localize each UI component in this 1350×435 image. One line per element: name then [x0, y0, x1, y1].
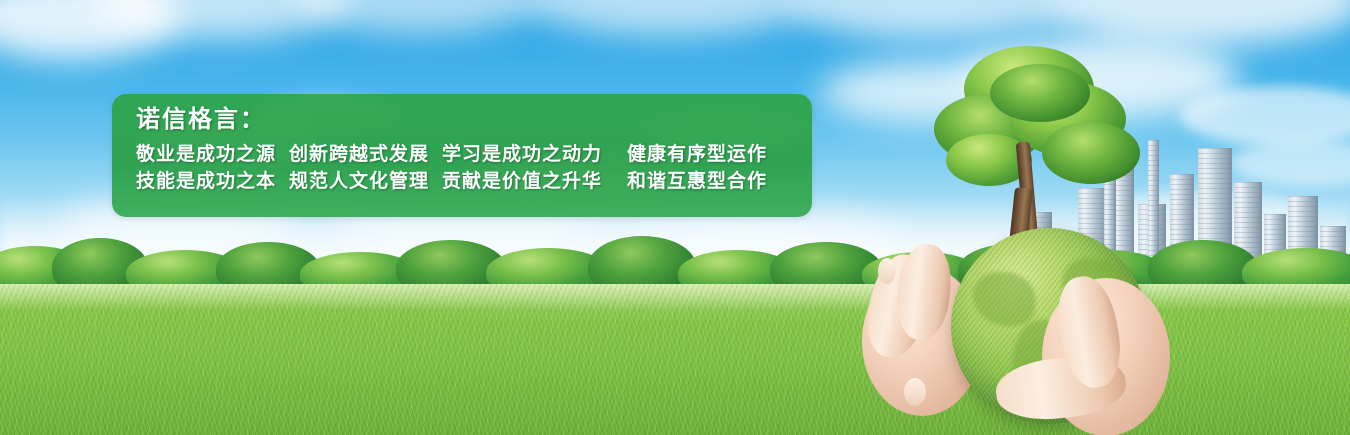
motto-phrase: 规范人文化管理: [289, 172, 429, 191]
motto-phrase: 和谐互惠型合作: [627, 172, 767, 191]
motto-phrase: 学习是成功之动力: [442, 145, 602, 164]
motto-phrase: 敬业是成功之源: [136, 145, 276, 164]
motto-panel: 诺信格言： 敬业是成功之源 创新跨越式发展 学习是成功之动力 健康有序型运作 技…: [112, 94, 812, 217]
panel-title: 诺信格言：: [136, 107, 812, 131]
motto-phrase: 贡献是价值之升华: [442, 172, 602, 191]
fingernail: [878, 258, 896, 284]
foliage: [990, 64, 1090, 122]
eco-banner: 诺信格言： 敬业是成功之源 创新跨越式发展 学习是成功之动力 健康有序型运作 技…: [0, 0, 1350, 435]
motto-row: 技能是成功之本 规范人文化管理 贡献是价值之升华 和谐互惠型合作: [136, 172, 812, 191]
foliage: [1042, 122, 1140, 184]
motto-phrase: 健康有序型运作: [627, 145, 767, 164]
cloud-icon: [300, 0, 540, 34]
cloud-icon: [520, 0, 820, 36]
cupped-hands: [846, 236, 1176, 435]
fingernail: [904, 378, 926, 406]
motto-phrase: 技能是成功之本: [136, 172, 276, 191]
tree-on-globe: [928, 38, 1140, 243]
motto-phrase: 创新跨越式发展: [289, 145, 429, 164]
motto-row: 敬业是成功之源 创新跨越式发展 学习是成功之动力 健康有序型运作: [136, 145, 812, 164]
cloud-icon: [790, 0, 1070, 40]
